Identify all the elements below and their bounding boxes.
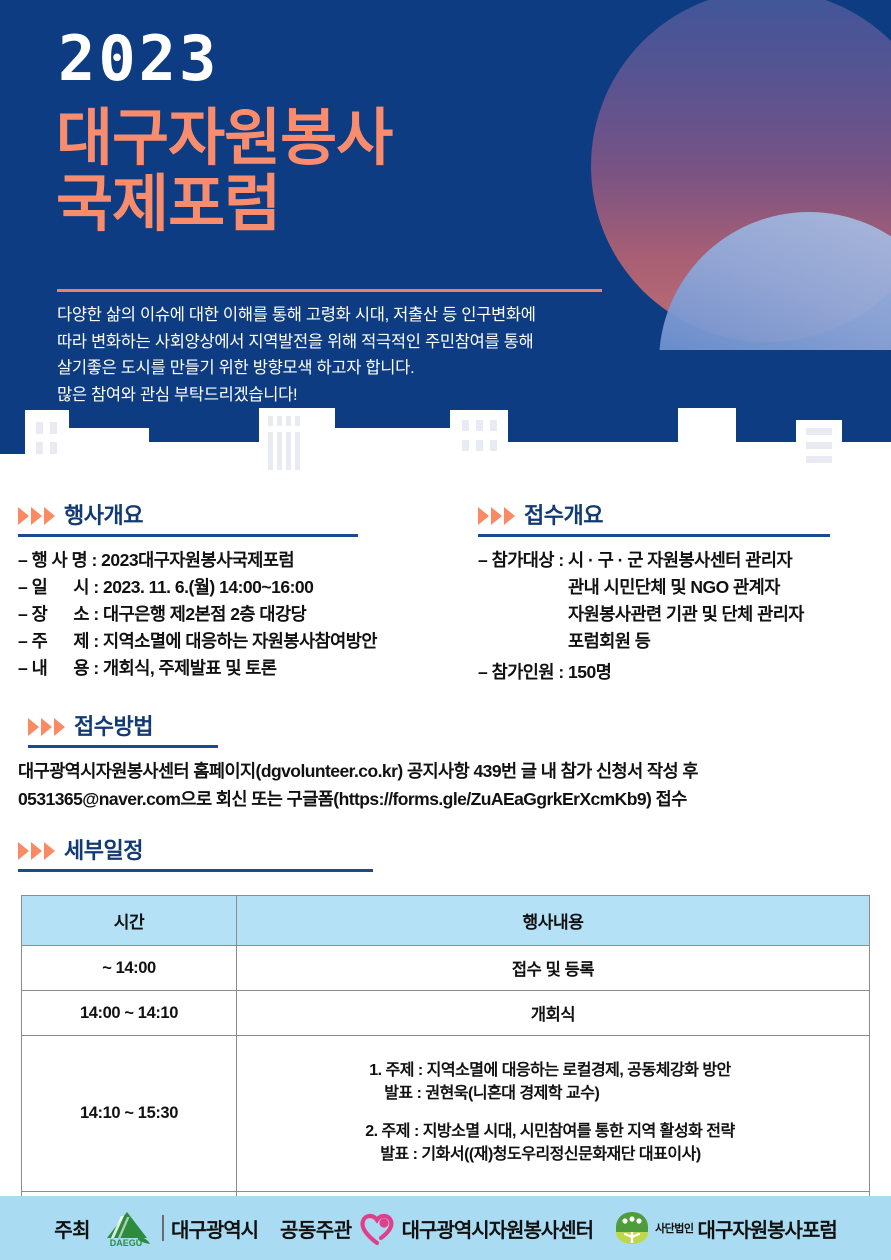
host-org-name: 대구광역시 bbox=[171, 1214, 258, 1243]
cell-time: 14:00 ~ 14:10 bbox=[22, 991, 237, 1036]
session-item: 2. 주제 : 지방소멸 시대, 시민참여를 통한 지역 활성화 전략 발표 :… bbox=[365, 1121, 734, 1166]
chevrons-icon bbox=[478, 507, 515, 525]
table-row-sessions: 14:10 ~ 15:30 1. 주제 : 지역소멸에 대응하는 로컬경제, 공… bbox=[22, 1036, 870, 1192]
item-key: – 참가인원 : bbox=[478, 659, 568, 686]
item-value: 2023. 11. 6.(월) 14:00~16:00 bbox=[103, 574, 450, 601]
item-key: – 행 사 명 : bbox=[18, 547, 101, 574]
chevrons-icon bbox=[28, 718, 65, 736]
heart-volunteer-center-logo-icon bbox=[359, 1210, 395, 1246]
cohost-group: 공동주관 대구광역시자원봉사센터 bbox=[280, 1210, 593, 1246]
item-value: 개회식, 주제발표 및 토론 bbox=[103, 655, 450, 682]
daegu-volunteer-forum-logo-icon bbox=[613, 1210, 651, 1246]
table-row: 14:00 ~ 14:10 개회식 bbox=[22, 991, 870, 1036]
section-header: 접수방법 bbox=[18, 716, 873, 738]
section-header: 접수개요 bbox=[478, 505, 878, 527]
item-value: 시 · 구 · 군 자원봉사센터 관리자 관내 시민단체 및 NGO 관계자 자… bbox=[568, 547, 878, 656]
section-header: 행사개요 bbox=[18, 505, 450, 527]
session-list: 1. 주제 : 지역소멸에 대응하는 로컬경제, 공동체강화 방안 발표 : 권… bbox=[243, 1046, 863, 1181]
event-overview-list: – 행 사 명 : 2023대구자원봉사국제포럼 – 일 시 : 2023. 1… bbox=[18, 547, 450, 683]
schedule-table: 시간 행사내용 ~ 14:00 접수 및 등록 14:00 ~ 14:10 개회… bbox=[21, 895, 870, 1237]
list-item: – 참가인원 : 150명 bbox=[478, 659, 878, 686]
poster-year: 2023 bbox=[58, 28, 219, 90]
section-registration-overview: 접수개요 – 참가대상 : 시 · 구 · 군 자원봉사센터 관리자 관내 시민… bbox=[478, 505, 878, 686]
item-value: 대구은행 제2본점 2층 대강당 bbox=[103, 601, 450, 628]
section-event-overview: 행사개요 – 행 사 명 : 2023대구자원봉사국제포럼 – 일 시 : 20… bbox=[18, 505, 450, 682]
cohost-label: 공동주관 bbox=[280, 1214, 352, 1243]
item-value: 지역소멸에 대응하는 자원봉사참여방안 bbox=[103, 628, 450, 655]
session-item: 1. 주제 : 지역소멸에 대응하는 로컬경제, 공동체강화 방안 발표 : 권… bbox=[369, 1060, 731, 1105]
item-value: 150명 bbox=[568, 659, 878, 686]
section-title: 접수방법 bbox=[74, 716, 153, 738]
section-underline bbox=[28, 745, 218, 748]
section-underline bbox=[478, 534, 830, 537]
list-item: – 참가대상 : 시 · 구 · 군 자원봉사센터 관리자 관내 시민단체 및 … bbox=[478, 547, 878, 656]
column-header-time: 시간 bbox=[22, 896, 237, 946]
cell-content: 접수 및 등록 bbox=[237, 946, 870, 991]
daegu-city-logo-icon: DAEGU bbox=[97, 1208, 155, 1248]
host-label: 주최 bbox=[54, 1214, 90, 1243]
table-header-row: 시간 행사내용 bbox=[22, 896, 870, 946]
session-speaker: 발표 : 기화서((재)청도우리정신문화재단 대표이사) bbox=[365, 1144, 734, 1167]
item-key: – 장 소 : bbox=[18, 601, 103, 628]
cell-content: 개회식 bbox=[237, 991, 870, 1036]
partner-group: 사단법인 대구자원봉사포럼 bbox=[613, 1210, 837, 1246]
section-apply-method: 접수방법 대구광역시자원봉사센터 홈페이지(dgvolunteer.co.kr)… bbox=[18, 716, 873, 813]
item-key: – 일 시 : bbox=[18, 574, 103, 601]
host-group: 주최 DAEGU 대구광역시 bbox=[54, 1208, 258, 1248]
section-title: 행사개요 bbox=[64, 505, 143, 527]
cell-time: ~ 14:00 bbox=[22, 946, 237, 991]
poster-title: 대구자원봉사 국제포럼 bbox=[56, 106, 392, 239]
poster-root: 2023 대구자원봉사 국제포럼 다양한 삶의 이슈에 대한 이해를 통해 고령… bbox=[0, 0, 891, 1260]
section-underline bbox=[18, 869, 373, 872]
cell-sessions: 1. 주제 : 지역소멸에 대응하는 로컬경제, 공동체강화 방안 발표 : 권… bbox=[237, 1036, 870, 1192]
session-topic: 2. 주제 : 지방소멸 시대, 시민참여를 통한 지역 활성화 전략 bbox=[365, 1121, 734, 1144]
apply-method-body: 대구광역시자원봉사센터 홈페이지(dgvolunteer.co.kr) 공지사항… bbox=[18, 757, 873, 813]
section-title: 세부일정 bbox=[64, 840, 143, 862]
chevrons-icon bbox=[18, 842, 55, 860]
list-item: – 주 제 : 지역소멸에 대응하는 자원봉사참여방안 bbox=[18, 628, 450, 655]
list-item: – 장 소 : 대구은행 제2본점 2층 대강당 bbox=[18, 601, 450, 628]
hero-description: 다양한 삶의 이슈에 대한 이해를 통해 고령화 시대, 저출산 등 인구변화에… bbox=[57, 302, 642, 409]
chevrons-icon bbox=[18, 507, 55, 525]
list-item: – 내 용 : 개회식, 주제발표 및 토론 bbox=[18, 655, 450, 682]
cell-time: 14:10 ~ 15:30 bbox=[22, 1036, 237, 1192]
item-key: – 참가대상 : bbox=[478, 547, 568, 656]
item-key: – 내 용 : bbox=[18, 655, 103, 682]
partner-prefix: 사단법인 bbox=[655, 1220, 693, 1236]
partner-org-name: 대구자원봉사포럼 bbox=[698, 1214, 837, 1243]
registration-overview-list: – 참가대상 : 시 · 구 · 군 자원봉사센터 관리자 관내 시민단체 및 … bbox=[478, 547, 878, 687]
column-header-content: 행사내용 bbox=[237, 896, 870, 946]
footer-bar: 주최 DAEGU 대구광역시 공동주관 대구광역시자원봉사센터 bbox=[0, 1196, 891, 1260]
session-speaker: 발표 : 권현욱(니혼대 경제학 교수) bbox=[369, 1083, 731, 1106]
list-item: – 행 사 명 : 2023대구자원봉사국제포럼 bbox=[18, 547, 450, 574]
item-value: 2023대구자원봉사국제포럼 bbox=[101, 547, 450, 574]
item-key: – 주 제 : bbox=[18, 628, 103, 655]
section-underline bbox=[18, 534, 358, 537]
section-header: 세부일정 bbox=[18, 840, 658, 862]
session-topic: 1. 주제 : 지역소멸에 대응하는 로컬경제, 공동체강화 방안 bbox=[369, 1060, 731, 1083]
footer-divider bbox=[162, 1215, 164, 1241]
section-title: 접수개요 bbox=[524, 505, 603, 527]
section-schedule: 세부일정 bbox=[18, 840, 658, 872]
svg-text:DAEGU: DAEGU bbox=[110, 1238, 143, 1248]
hero-divider bbox=[57, 289, 602, 292]
table-row: ~ 14:00 접수 및 등록 bbox=[22, 946, 870, 991]
cohost-org-name: 대구광역시자원봉사센터 bbox=[402, 1214, 593, 1243]
list-item: – 일 시 : 2023. 11. 6.(월) 14:00~16:00 bbox=[18, 574, 450, 601]
